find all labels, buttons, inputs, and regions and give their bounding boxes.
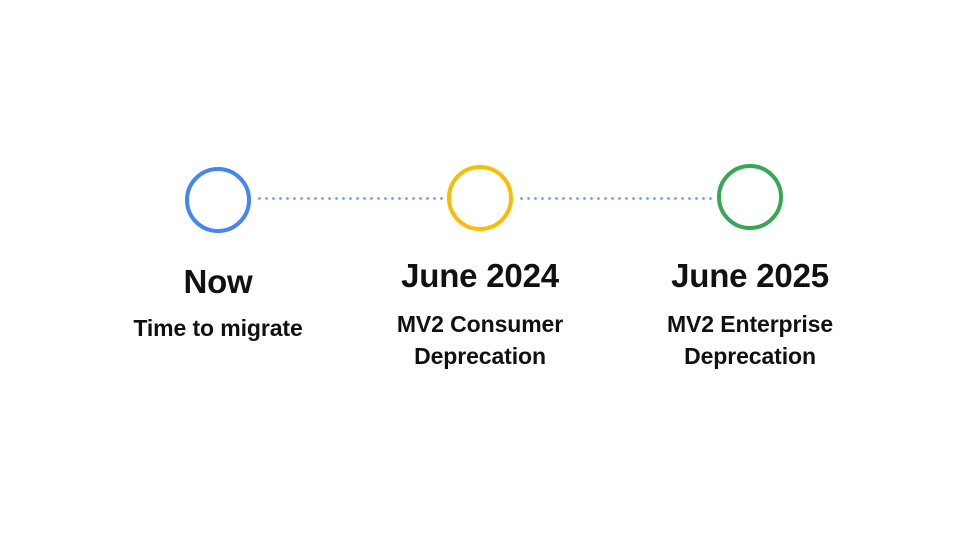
timeline-connector-now-to-june-2024 — [256, 197, 444, 200]
timeline-diagram: Now Time to migrate June 2024 MV2 Consum… — [0, 0, 960, 540]
timeline-marker-june-2025 — [717, 164, 783, 230]
milestone-subtitle-line: Deprecation — [600, 340, 900, 372]
milestone-subtitle: MV2 Enterprise Deprecation — [600, 308, 900, 372]
milestone-subtitle-line: Time to migrate — [68, 312, 368, 344]
timeline-label-june-2025: June 2025 MV2 Enterprise Deprecation — [600, 256, 900, 372]
timeline-marker-now — [185, 167, 251, 233]
timeline-connector-june-2024-to-june-2025 — [518, 197, 714, 200]
timeline-marker-june-2024 — [447, 165, 513, 231]
milestone-subtitle: Time to migrate — [68, 312, 368, 344]
milestone-subtitle-line: Deprecation — [330, 340, 630, 372]
milestone-title: June 2025 — [600, 256, 900, 296]
milestone-title: June 2024 — [330, 256, 630, 296]
milestone-subtitle-line: MV2 Consumer — [330, 308, 630, 340]
timeline-label-june-2024: June 2024 MV2 Consumer Deprecation — [330, 256, 630, 372]
milestone-title: Now — [68, 262, 368, 302]
milestone-subtitle: MV2 Consumer Deprecation — [330, 308, 630, 372]
timeline-label-now: Now Time to migrate — [68, 262, 368, 344]
milestone-subtitle-line: MV2 Enterprise — [600, 308, 900, 340]
